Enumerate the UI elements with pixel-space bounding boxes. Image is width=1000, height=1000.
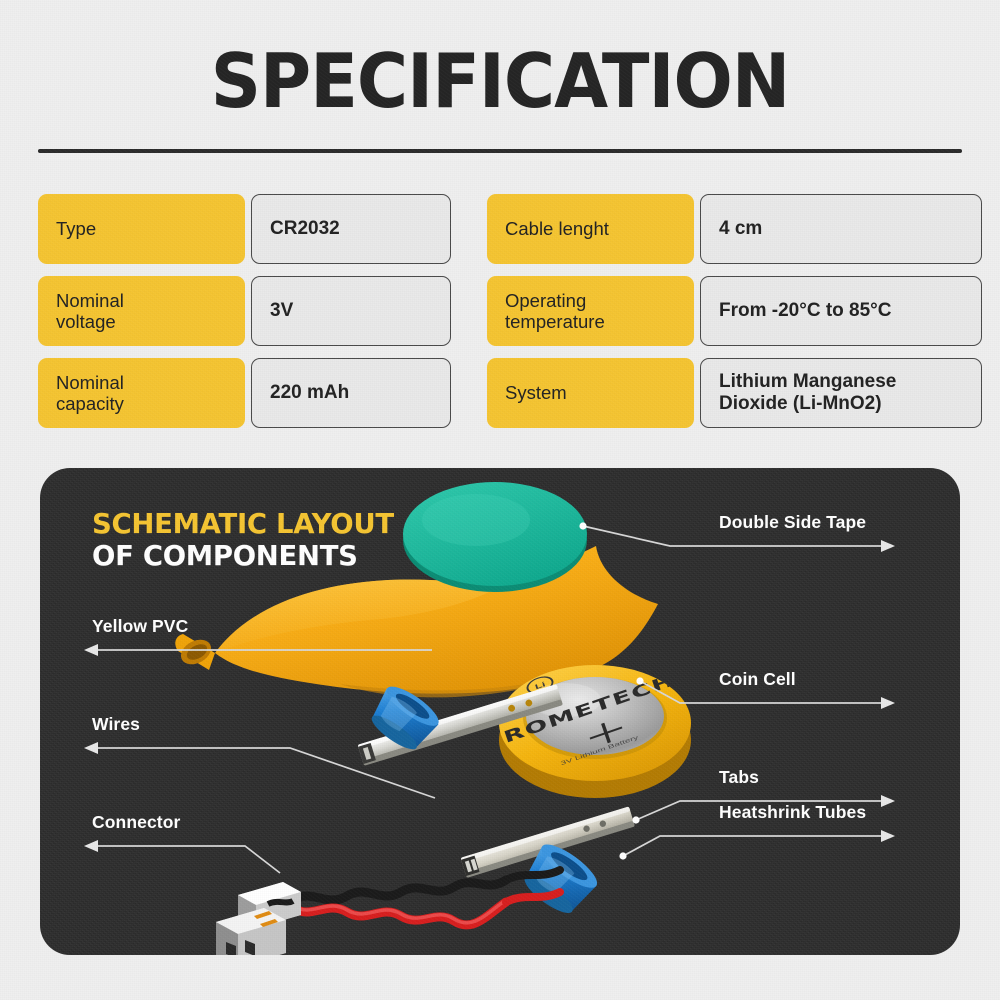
spec-row: Operatingtemperature From -20°C to 85°C xyxy=(487,276,982,346)
spec-row: Nominalvoltage 3V xyxy=(38,276,451,346)
page-title: SPECIFICATION xyxy=(35,44,965,119)
specification-table: Type CR2032 Nominalvoltage 3V Nominalcap… xyxy=(38,194,964,428)
spec-row: Nominalcapacity 220 mAh xyxy=(38,358,451,428)
callout-label-coin-cell: Coin Cell xyxy=(719,669,796,690)
spec-label: Cable lenght xyxy=(487,194,694,264)
spec-value: From -20°C to 85°C xyxy=(700,276,982,346)
spec-value: 3V xyxy=(251,276,451,346)
callout-label-wires: Wires xyxy=(92,714,140,735)
spec-row: Type CR2032 xyxy=(38,194,451,264)
callout-label-yellow-pvc: Yellow PVC xyxy=(92,616,188,637)
spec-value: CR2032 xyxy=(251,194,451,264)
spec-label: Nominalvoltage xyxy=(38,276,245,346)
spec-label: Nominalcapacity xyxy=(38,358,245,428)
spec-label: System xyxy=(487,358,694,428)
callout-label-tabs: Tabs xyxy=(719,767,759,788)
callout-label-connector: Connector xyxy=(92,812,180,833)
spec-value: 4 cm xyxy=(700,194,982,264)
spec-row: System Lithium ManganeseDioxide (Li-MnO2… xyxy=(487,358,982,428)
spec-column-left: Type CR2032 Nominalvoltage 3V Nominalcap… xyxy=(38,194,451,428)
title-divider xyxy=(38,149,962,153)
spec-value: 220 mAh xyxy=(251,358,451,428)
spec-value: Lithium ManganeseDioxide (Li-MnO2) xyxy=(700,358,982,428)
callout-label-heatshrink-tubes: Heatshrink Tubes xyxy=(719,802,866,823)
spec-label: Type xyxy=(38,194,245,264)
leader-lines xyxy=(40,468,960,955)
spec-label: Operatingtemperature xyxy=(487,276,694,346)
callout-label-double-side-tape: Double Side Tape xyxy=(719,512,866,533)
spec-row: Cable lenght 4 cm xyxy=(487,194,982,264)
schematic-panel: ROMETECH 3V Lithium Battery Li xyxy=(40,468,960,955)
spec-column-right: Cable lenght 4 cm Operatingtemperature F… xyxy=(487,194,982,428)
